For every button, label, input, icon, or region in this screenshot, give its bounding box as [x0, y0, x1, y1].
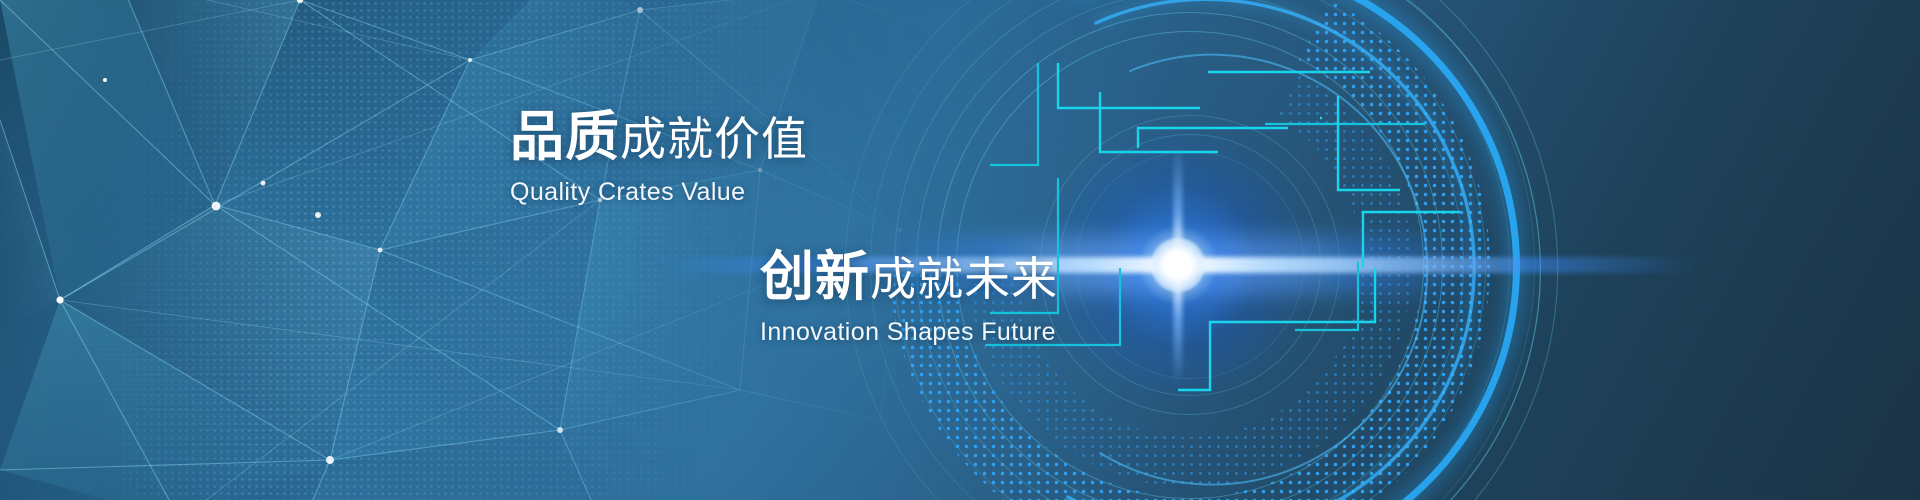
quality-headline-strong: 品质	[510, 110, 620, 164]
innovation-subtitle: Innovation Shapes Future	[760, 318, 1058, 347]
innovation-headline-strong: 创新	[760, 250, 870, 304]
quality-subtitle: Quality Crates Value	[510, 178, 808, 207]
slogan-innovation: 创新 成就未来 Innovation Shapes Future	[760, 250, 1058, 347]
innovation-headline-light: 成就未来	[870, 256, 1058, 302]
slogan-quality: 品质 成就价值 Quality Crates Value	[510, 110, 808, 207]
quality-headline-light: 成就价值	[620, 116, 808, 162]
hero-banner: 品质 成就价值 Quality Crates Value 创新 成就未来 Inn…	[0, 0, 1920, 500]
